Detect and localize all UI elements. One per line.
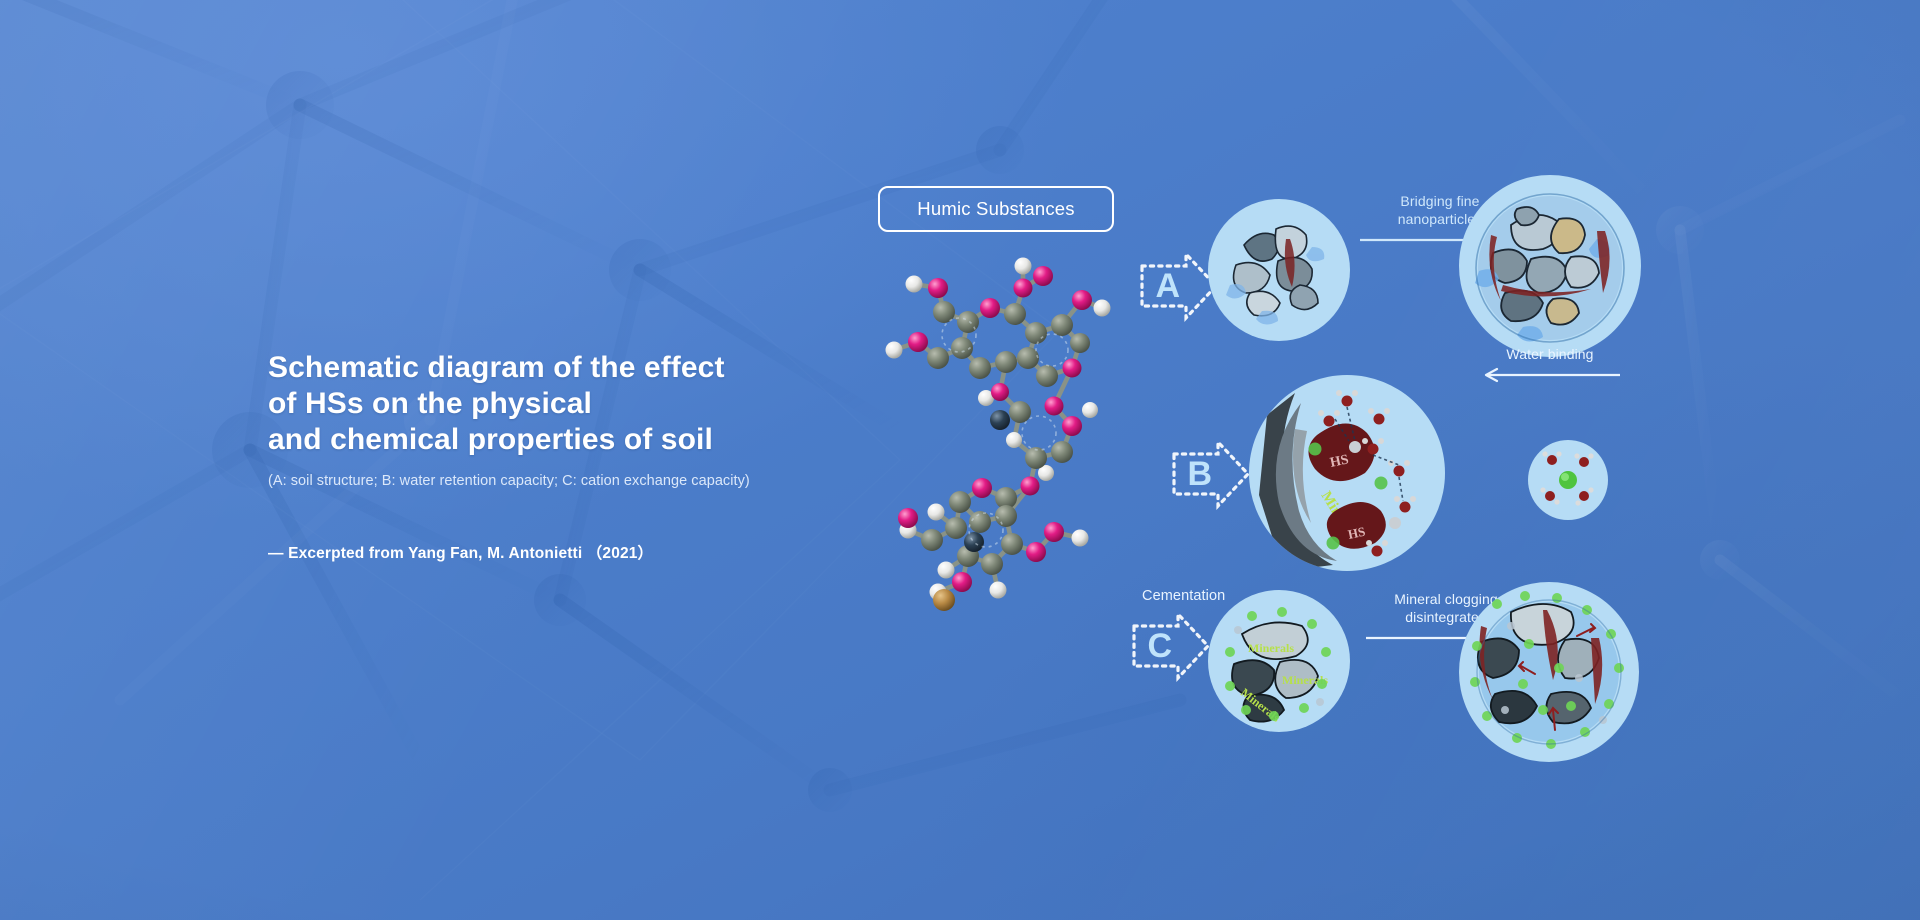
step-letter-c: C bbox=[1136, 615, 1184, 677]
soil-aggregate-circle-a-after bbox=[1459, 175, 1641, 357]
humic-substances-text: Humic Substances bbox=[917, 198, 1074, 220]
step-arrow-b: B bbox=[1172, 440, 1250, 508]
flow-water-binding: Water binding bbox=[1470, 345, 1630, 383]
headline-line-3: and chemical properties of soil bbox=[268, 422, 908, 458]
humic-substances-label: Humic Substances bbox=[878, 186, 1114, 232]
step-arrow-a: A bbox=[1140, 252, 1218, 320]
headline-block: Schematic diagram of the effect of HSs o… bbox=[268, 350, 908, 563]
minerals-label-c-1: Minerals bbox=[1248, 641, 1294, 655]
disintegrated-aggregate-circle bbox=[1459, 582, 1639, 762]
flow-water-binding-arrow-icon bbox=[1480, 367, 1620, 383]
page-title: Schematic diagram of the effect of HSs o… bbox=[268, 350, 908, 458]
water-retention-circle: Minerals HS HS bbox=[1249, 375, 1445, 571]
flow-water-binding-text: Water binding bbox=[1470, 345, 1630, 363]
hydrated-cation-circle bbox=[1528, 440, 1608, 520]
step-arrow-c: C bbox=[1132, 612, 1210, 680]
soil-aggregate-circle-a-before bbox=[1208, 199, 1350, 341]
headline-line-2: of HSs on the physical bbox=[268, 386, 908, 422]
cementation-circle: Minerals Minerals Minerals bbox=[1208, 590, 1350, 732]
cementation-label: Cementation bbox=[1142, 588, 1225, 604]
step-letter-a: A bbox=[1144, 255, 1192, 317]
step-letter-b: B bbox=[1176, 443, 1224, 505]
panel-legend-note: (A: soil structure; B: water retention c… bbox=[268, 471, 908, 491]
headline-line-1: Schematic diagram of the effect bbox=[268, 350, 908, 386]
poster-canvas: Schematic diagram of the effect of HSs o… bbox=[0, 0, 1920, 920]
source-credit: — Excerpted from Yang Fan, M. Antonietti… bbox=[268, 541, 908, 563]
